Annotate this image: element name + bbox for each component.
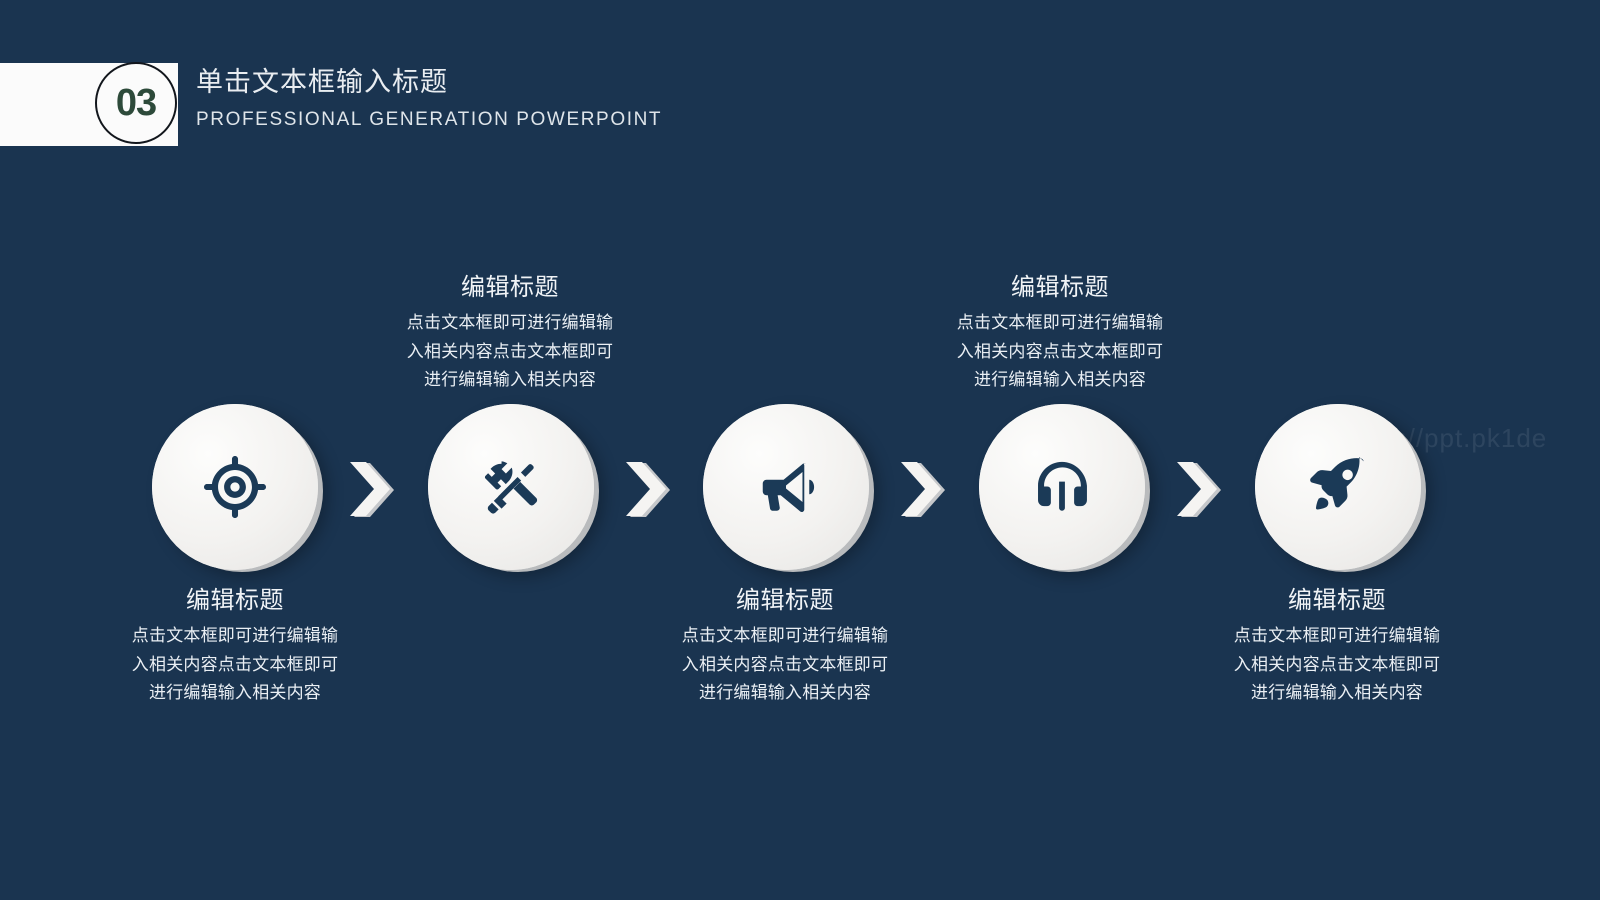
rocket-icon — [1255, 404, 1421, 570]
flow-label-body-line: 进行编辑输入相关内容 — [1187, 679, 1487, 708]
process-flow — [0, 404, 1600, 572]
flow-label-title-2: 编辑标题 — [360, 272, 660, 303]
flow-label-title-1: 编辑标题 — [85, 585, 385, 616]
flow-label-body-3: 点击文本框即可进行编辑输 入相关内容点击文本框即可 进行编辑输入相关内容 — [635, 622, 935, 708]
slide-canvas: 03 单击文本框输入标题 PROFESSIONAL GENERATION POW… — [0, 0, 1600, 900]
flow-label-2: 编辑标题 点击文本框即可进行编辑输 入相关内容点击文本框即可 进行编辑输入相关内… — [360, 272, 660, 395]
flow-label-4: 编辑标题 点击文本框即可进行编辑输 入相关内容点击文本框即可 进行编辑输入相关内… — [910, 272, 1210, 395]
chevron-right-icon-4 — [1175, 462, 1227, 518]
flow-label-body-line: 点击文本框即可进行编辑输 — [1187, 622, 1487, 651]
flow-label-body-line: 入相关内容点击文本框即可 — [1187, 651, 1487, 680]
flow-label-title-4: 编辑标题 — [910, 272, 1210, 303]
page-title: 单击文本框输入标题 — [196, 64, 662, 100]
chevron-right-icon-1 — [348, 462, 400, 518]
flow-label-body-line: 入相关内容点击文本框即可 — [85, 651, 385, 680]
flow-label-body-2: 点击文本框即可进行编辑输 入相关内容点击文本框即可 进行编辑输入相关内容 — [360, 309, 660, 395]
flow-label-body-line: 入相关内容点击文本框即可 — [360, 338, 660, 367]
flow-label-1: 编辑标题 点击文本框即可进行编辑输 入相关内容点击文本框即可 进行编辑输入相关内… — [85, 585, 385, 708]
chevron-right-icon-3 — [899, 462, 951, 518]
chevron-right-icon-2 — [624, 462, 676, 518]
flow-node-2[interactable] — [428, 404, 594, 570]
flow-label-body-1: 点击文本框即可进行编辑输 入相关内容点击文本框即可 进行编辑输入相关内容 — [85, 622, 385, 708]
flow-label-body-line: 进行编辑输入相关内容 — [910, 366, 1210, 395]
flow-label-body-line: 点击文本框即可进行编辑输 — [635, 622, 935, 651]
headphones-icon — [979, 404, 1145, 570]
page-subtitle: PROFESSIONAL GENERATION POWERPOINT — [196, 106, 662, 135]
flow-label-title-5: 编辑标题 — [1187, 585, 1487, 616]
hammer-wrench-tools-icon — [428, 404, 594, 570]
flow-node-5[interactable] — [1255, 404, 1421, 570]
crosshair-target-icon — [152, 404, 318, 570]
flow-label-body-line: 入相关内容点击文本框即可 — [910, 338, 1210, 367]
flow-label-body-line: 点击文本框即可进行编辑输 — [360, 309, 660, 338]
flow-label-body-line: 入相关内容点击文本框即可 — [635, 651, 935, 680]
flow-node-3[interactable] — [703, 404, 869, 570]
header-text-group: 单击文本框输入标题 PROFESSIONAL GENERATION POWERP… — [196, 64, 662, 135]
megaphone-icon — [703, 404, 869, 570]
flow-label-body-line: 点击文本框即可进行编辑输 — [85, 622, 385, 651]
section-number-badge: 03 — [95, 62, 177, 144]
flow-node-4[interactable] — [979, 404, 1145, 570]
flow-label-3: 编辑标题 点击文本框即可进行编辑输 入相关内容点击文本框即可 进行编辑输入相关内… — [635, 585, 935, 708]
flow-label-body-4: 点击文本框即可进行编辑输 入相关内容点击文本框即可 进行编辑输入相关内容 — [910, 309, 1210, 395]
flow-label-title-3: 编辑标题 — [635, 585, 935, 616]
flow-label-body-line: 进行编辑输入相关内容 — [85, 679, 385, 708]
flow-label-body-5: 点击文本框即可进行编辑输 入相关内容点击文本框即可 进行编辑输入相关内容 — [1187, 622, 1487, 708]
section-number: 03 — [116, 84, 156, 122]
flow-label-body-line: 点击文本框即可进行编辑输 — [910, 309, 1210, 338]
flow-label-body-line: 进行编辑输入相关内容 — [635, 679, 935, 708]
flow-node-1[interactable] — [152, 404, 318, 570]
flow-label-body-line: 进行编辑输入相关内容 — [360, 366, 660, 395]
flow-label-5: 编辑标题 点击文本框即可进行编辑输 入相关内容点击文本框即可 进行编辑输入相关内… — [1187, 585, 1487, 708]
